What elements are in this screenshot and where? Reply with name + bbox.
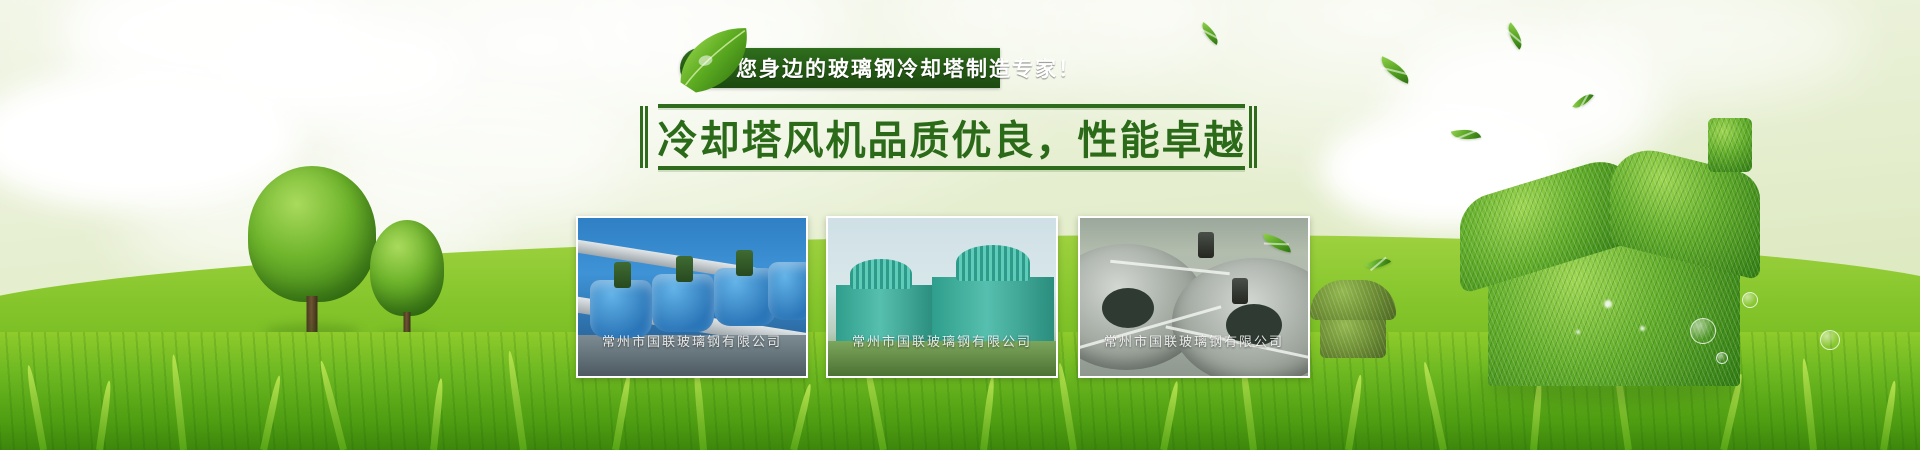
- bubble: [1820, 330, 1840, 350]
- photo-1-scene: [578, 218, 806, 376]
- sparkle: [1604, 300, 1612, 308]
- photo-1-motor: [676, 256, 693, 282]
- bubble: [1690, 318, 1716, 344]
- product-photo-2[interactable]: 常州市国联玻璃钢有限公司: [826, 216, 1058, 378]
- grass-house-icon: [1442, 120, 1772, 386]
- headline-text: 冷却塔风机品质优良，性能卓越: [668, 108, 1235, 166]
- photo-1-tank: [714, 268, 776, 326]
- headline-bar-left: [640, 106, 648, 168]
- photo-1-tank: [652, 274, 714, 332]
- grass-hut-icon: [1304, 270, 1400, 358]
- small-tree-icon: [370, 220, 444, 338]
- photo-1-motor: [614, 262, 631, 288]
- large-tree-icon: [248, 166, 376, 332]
- headline-bar-right: [1249, 106, 1257, 168]
- photo-3-motor: [1232, 278, 1248, 304]
- bubble: [1716, 352, 1728, 364]
- photo-2-scene: [828, 218, 1056, 376]
- headline-frame: 冷却塔风机品质优良，性能卓越: [640, 104, 1245, 170]
- tree-crown: [248, 166, 376, 302]
- photo-2-ground: [828, 341, 1056, 376]
- photo-2-fan-ring: [956, 245, 1030, 281]
- photo-2-tower: [932, 277, 1054, 341]
- photo-1-tank: [768, 262, 808, 320]
- photo-1-tank: [590, 280, 652, 338]
- product-photo-1[interactable]: 常州市国联玻璃钢有限公司: [576, 216, 808, 378]
- photo-1-deck: [578, 335, 806, 376]
- photo-2-tower: [836, 285, 934, 341]
- tree-crown: [370, 220, 444, 316]
- headline-rule-bottom: [658, 166, 1245, 170]
- sparkle: [1640, 326, 1645, 331]
- photo-3-motor: [1198, 232, 1214, 258]
- promo-banner: 您身边的玻璃钢冷却塔制造专家！ 冷却塔风机品质优良，性能卓越: [0, 0, 1920, 450]
- sparkle: [1576, 330, 1580, 334]
- photo-3-fan-hub: [1102, 288, 1154, 328]
- grass-house-chimney: [1708, 118, 1752, 172]
- photo-2-fan-ring: [850, 259, 912, 289]
- grass-hut-roof: [1310, 280, 1396, 320]
- bubble: [1742, 292, 1758, 308]
- tagline-text: 您身边的玻璃钢冷却塔制造专家！: [736, 53, 1081, 83]
- photo-1-motor: [736, 250, 753, 276]
